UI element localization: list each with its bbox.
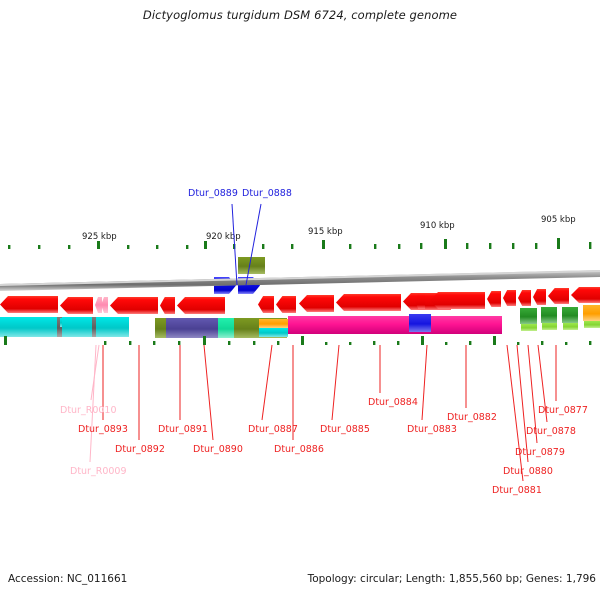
olive-feature-box[interactable] (238, 257, 265, 274)
gene-label[interactable]: Dtur_0887 (248, 424, 298, 435)
cds-arrow-reverse[interactable] (110, 297, 158, 314)
ruler-tick-major (557, 238, 560, 249)
gene-label[interactable]: Dtur_0885 (320, 424, 370, 435)
ruler-labels: 925 kbp920 kbp915 kbp910 kbp905 kbp (82, 215, 576, 242)
ruler-tick-minor (535, 243, 537, 249)
ruler-position-label: 910 kbp (420, 221, 455, 231)
cds-arrow-reverse[interactable] (518, 290, 531, 306)
lower-tick (153, 341, 155, 345)
domain-feature[interactable] (520, 308, 537, 324)
ruler-tick-minor (68, 245, 70, 249)
cds-arrow-reverse[interactable] (258, 296, 274, 313)
accession-text: Accession: NC_011661 (8, 573, 127, 585)
lower-tick (589, 341, 591, 345)
gene-label[interactable]: Dtur_0882 (447, 412, 497, 423)
ruler-position-label: 925 kbp (82, 232, 117, 242)
lower-tick (397, 341, 399, 345)
cds-arrow-reverse[interactable] (0, 296, 58, 313)
domain-feature[interactable] (288, 316, 502, 334)
gene-label[interactable]: Dtur_0893 (78, 424, 128, 435)
ruler-tick-minor (489, 243, 491, 249)
ruler-tick-major (204, 241, 207, 249)
ruler-tick-minor (156, 245, 158, 249)
lower-tick (541, 341, 543, 345)
gene-label[interactable]: Dtur_R0009 (70, 466, 127, 477)
domain-feature-accent[interactable] (542, 323, 557, 330)
gene-label[interactable]: Dtur_0880 (503, 466, 553, 477)
ruler-tick-minor (512, 243, 514, 249)
genome-backbone (0, 270, 600, 291)
domain-feature[interactable] (166, 318, 218, 338)
genome-map-canvas[interactable]: 925 kbp920 kbp915 kbp910 kbp905 kbp Dtur… (0, 0, 600, 600)
gene-label[interactable]: Dtur_0886 (274, 444, 324, 455)
ruler-tick-minor (262, 244, 264, 249)
ruler-tick-major (444, 239, 447, 249)
ruler-tick-minor (420, 243, 422, 249)
cds-arrow-reverse[interactable] (487, 291, 501, 307)
cds-arrow-reverse[interactable] (533, 289, 546, 305)
ruler-tick-minor (349, 244, 351, 249)
domain-feature[interactable] (562, 307, 578, 323)
gene-label[interactable]: Dtur_0892 (115, 444, 165, 455)
rna-arrow-reverse[interactable] (95, 297, 102, 313)
ruler-tick-minor (127, 245, 129, 249)
lower-tick (445, 342, 447, 345)
lower-tick (421, 336, 424, 345)
ruler-position-label: 915 kbp (308, 227, 343, 237)
lower-tick (129, 341, 131, 345)
label-leader-line (262, 345, 272, 420)
gene-label[interactable]: Dtur_0881 (492, 485, 542, 496)
gene-label[interactable]: Dtur_0878 (526, 426, 576, 437)
ruler-tick-minor (374, 244, 376, 249)
cds-arrow-reverse[interactable] (503, 290, 516, 306)
lower-tick (301, 336, 304, 345)
ruler-position-label: 905 kbp (541, 215, 576, 225)
gene-label[interactable]: Dtur_0891 (158, 424, 208, 435)
genome-info-text: Topology: circular; Length: 1,855,560 bp… (308, 573, 596, 585)
lower-tick (178, 341, 180, 345)
domain-feature[interactable] (218, 318, 234, 338)
lower-tick (277, 341, 279, 345)
domain-feature[interactable] (259, 319, 288, 328)
gene-label[interactable]: Dtur_R0010 (60, 405, 117, 416)
gene-label[interactable]: Dtur_0884 (368, 397, 418, 408)
gene-label[interactable]: Dtur_0888 (242, 188, 292, 199)
label-leader-line (90, 345, 96, 462)
cds-arrow-reverse[interactable] (336, 294, 401, 311)
lower-tick (517, 342, 519, 345)
lower-tick (253, 341, 255, 345)
domain-feature[interactable] (259, 328, 288, 337)
lower-tick (493, 336, 496, 345)
lower-tick (228, 341, 230, 345)
domain-feature[interactable] (409, 314, 431, 332)
cds-arrow-reverse[interactable] (548, 288, 569, 304)
lower-tick (565, 342, 567, 345)
cds-arrow-reverse[interactable] (160, 297, 175, 314)
label-leader-line (232, 204, 237, 285)
lower-ticks (4, 336, 591, 345)
lower-tick (4, 336, 7, 345)
domain-feature[interactable] (583, 305, 600, 321)
genome-map-viewer[interactable]: Dictyoglomus turgidum DSM 6724, complete… (0, 0, 600, 600)
domain-feature-accent[interactable] (584, 321, 600, 328)
gene-label[interactable]: Dtur_0877 (538, 405, 588, 416)
cds-reverse-track[interactable] (0, 287, 600, 314)
lower-tick (469, 341, 471, 345)
lower-tick (203, 336, 206, 345)
ruler-tick-minor (38, 245, 40, 249)
ruler-tick-minor (291, 244, 293, 249)
ruler-position-label: 920 kbp (206, 232, 241, 242)
domain-feature[interactable] (0, 317, 57, 337)
gene-label[interactable]: Dtur_0890 (193, 444, 243, 455)
domain-feature[interactable] (155, 318, 166, 338)
label-leader-line (422, 345, 427, 420)
ruler-tick-minor (186, 245, 188, 249)
cds-arrow-reverse[interactable] (430, 292, 485, 309)
feature-box-olive[interactable] (238, 257, 265, 274)
lower-tick (325, 342, 327, 345)
domain-feature-accent[interactable] (563, 323, 578, 330)
domain-feature[interactable] (98, 317, 129, 337)
ruler-tick-major (97, 241, 100, 249)
domain-feature[interactable] (62, 317, 92, 337)
ruler-tick-major (322, 240, 325, 249)
rna-arrow-reverse[interactable] (101, 297, 108, 313)
cds-arrow-reverse[interactable] (299, 295, 334, 312)
label-leader-line (332, 345, 339, 420)
ruler-tick-minor (589, 242, 591, 249)
cds-arrow-reverse[interactable] (177, 297, 225, 314)
lower-tick (373, 341, 375, 345)
ruler-tick-minor (466, 243, 468, 249)
cds-arrow-reverse[interactable] (276, 296, 296, 313)
ruler-tick-minor (8, 245, 10, 249)
ruler-tick-minor (398, 244, 400, 249)
lower-tick (349, 342, 351, 345)
cds-arrow-reverse[interactable] (571, 287, 600, 303)
gene-label[interactable]: Dtur_0889 (188, 188, 238, 199)
domain-feature[interactable] (541, 307, 557, 323)
gene-label[interactable]: Dtur_0879 (515, 447, 565, 458)
domain-feature-accent[interactable] (521, 324, 537, 331)
gene-label[interactable]: Dtur_0883 (407, 424, 457, 435)
label-leader-line (507, 345, 523, 481)
lower-tick (104, 341, 106, 345)
